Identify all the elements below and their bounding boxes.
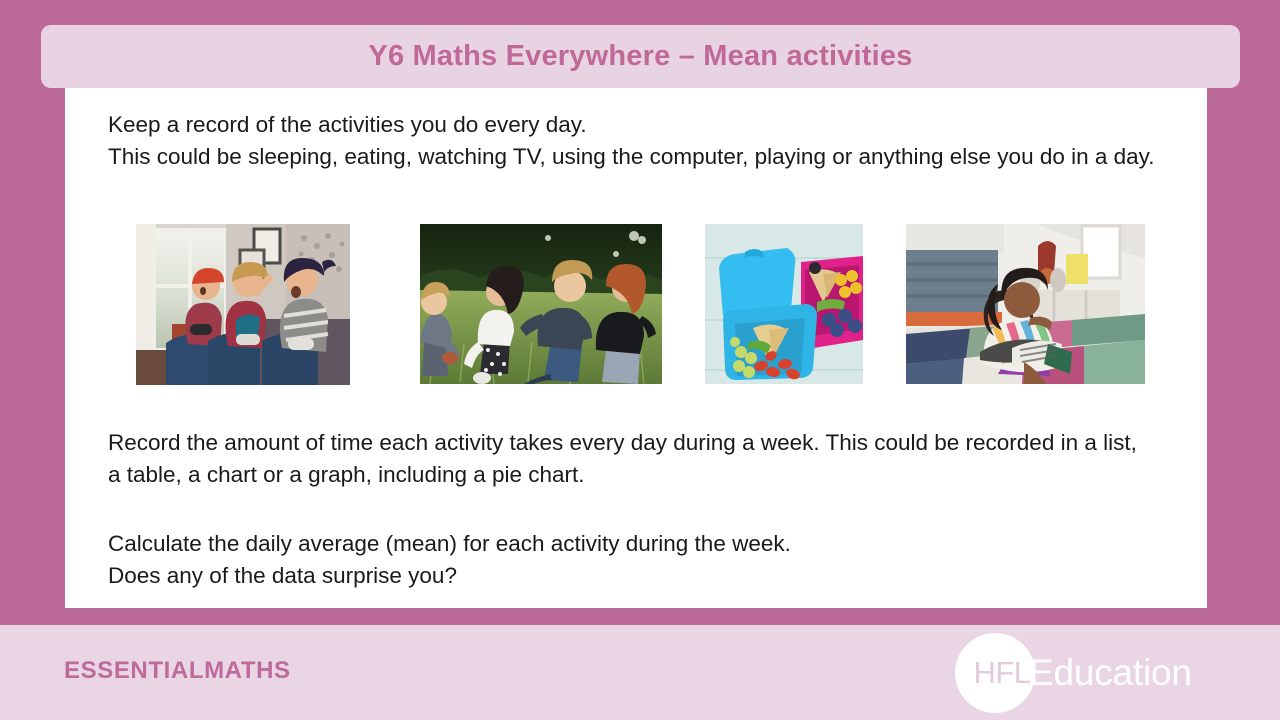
hfl-education-label: Education	[1029, 652, 1192, 694]
hfl-badge-circle: HFL	[955, 633, 1035, 713]
photo-strip	[65, 224, 1207, 388]
page-title: Y6 Maths Everywhere – Mean activities	[368, 40, 912, 73]
hfl-mark-label: HFL	[973, 655, 1030, 691]
slide-footer: ESSENTIALMATHS HFL Education	[0, 625, 1280, 720]
slide: Y6 Maths Everywhere – Mean activities Ke…	[0, 0, 1280, 720]
essentialmaths-brand: ESSENTIALMATHS	[64, 657, 291, 685]
intro-paragraph: Keep a record of the activities you do e…	[108, 109, 1168, 173]
content-panel: Keep a record of the activities you do e…	[65, 88, 1207, 608]
calculate-paragraph: Calculate the daily average (mean) for e…	[108, 528, 1108, 592]
hfl-education-logo: HFL Education	[955, 633, 1192, 713]
children-playing-video-games-photo	[136, 224, 350, 385]
packed-lunch-boxes-photo	[705, 224, 863, 384]
girl-reading-book-photo	[906, 224, 1145, 384]
record-paragraph: Record the amount of time each activity …	[108, 427, 1138, 491]
children-running-in-field-photo	[420, 224, 662, 384]
slide-title-bar: Y6 Maths Everywhere – Mean activities	[41, 25, 1240, 88]
